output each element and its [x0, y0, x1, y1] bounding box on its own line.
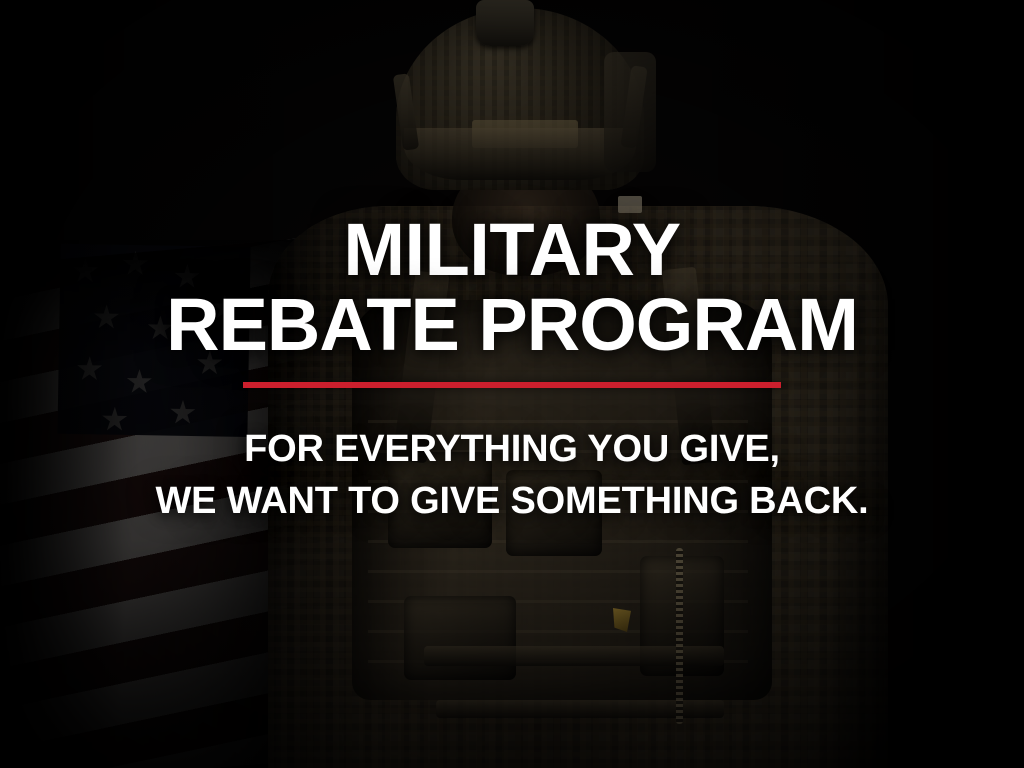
headline-line-1: MILITARY: [343, 214, 680, 285]
subtitle-line-2: WE WANT TO GIVE SOMETHING BACK.: [156, 476, 869, 526]
subtitle-line-1: FOR EVERYTHING YOU GIVE,: [244, 424, 780, 474]
military-rebate-banner: MILITARY REBATE PROGRAM FOR EVERYTHING Y…: [0, 0, 1024, 768]
accent-divider-rule: [243, 382, 781, 388]
banner-content: MILITARY REBATE PROGRAM FOR EVERYTHING Y…: [0, 0, 1024, 768]
headline-line-2: REBATE PROGRAM: [166, 289, 858, 360]
